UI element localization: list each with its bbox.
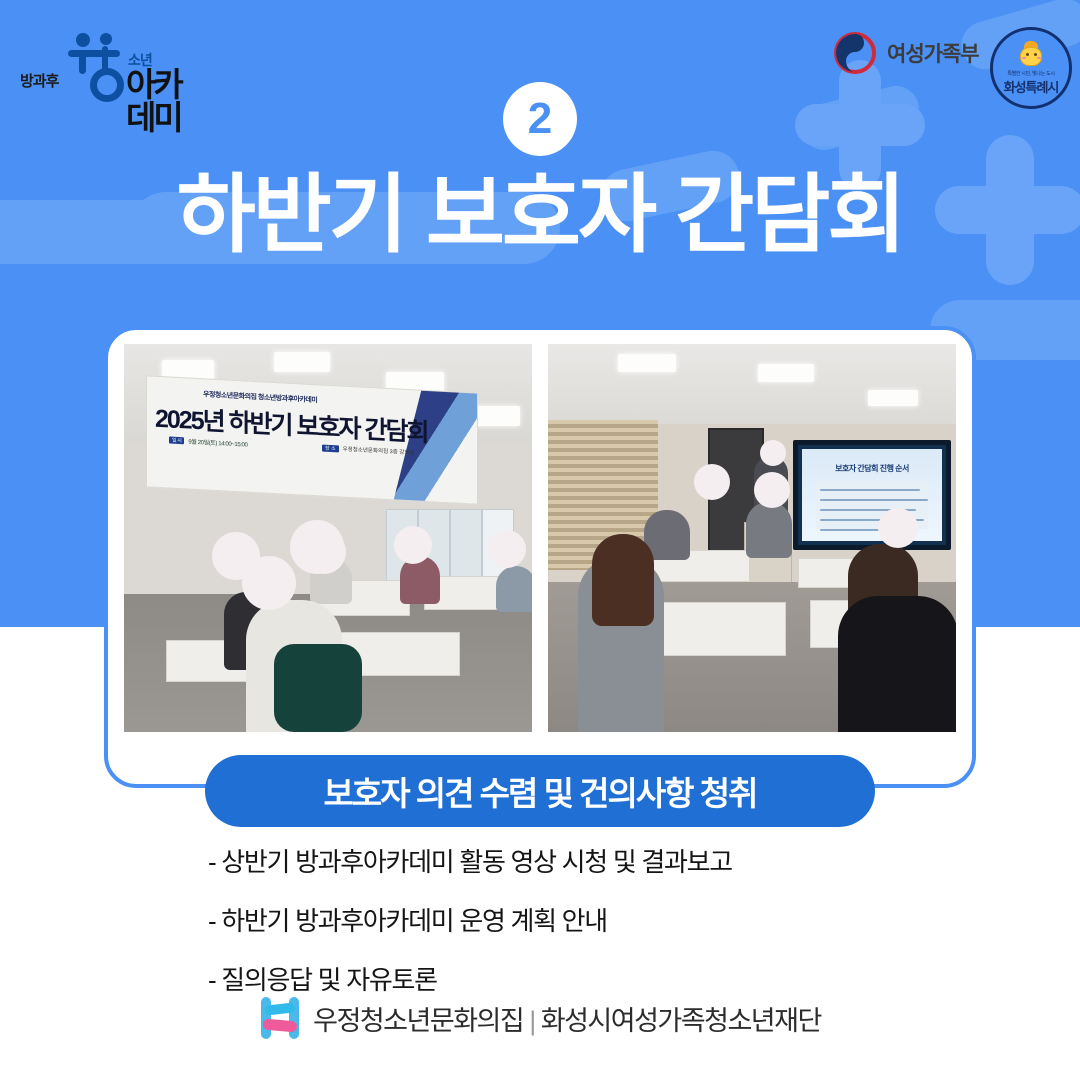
list-item: - 상반기 방과후아카데미 활동 영상 시청 및 결과보고 — [208, 842, 908, 879]
footer-org-secondary: 화성시여성가족청소년재단 — [541, 1006, 821, 1036]
footer-text: 우정청소년문화의집|화성시여성가족청소년재단 — [313, 999, 821, 1038]
section-number-badge: 2 — [503, 82, 577, 156]
bullet-list: - 상반기 방과후아카데미 활동 영상 시청 및 결과보고 - 하반기 방과후아… — [208, 842, 908, 1019]
page-title: 하반기 보호자 간담회 — [0, 170, 1080, 260]
city-slogan: 특별한 시민, 빛나는 도시 — [1007, 70, 1054, 77]
taegeuk-icon — [832, 30, 878, 76]
poster-card: 방과후 소년 아카데미 여성가족부 특별한 시민, 빛나는 도시 화성특례시 — [0, 0, 1080, 1080]
logo-label-academy: 아카데미 — [126, 68, 193, 134]
projector-screen: 보호자 간담회 진행 순서 — [793, 440, 951, 550]
foundation-logo-icon — [259, 995, 301, 1041]
ministry-logo: 여성가족부 — [832, 30, 979, 76]
footer: 우정청소년문화의집|화성시여성가족청소년재단 — [0, 995, 1080, 1041]
footer-org-primary: 우정청소년문화의집 — [313, 1006, 523, 1036]
photo-banner: 우정청소년문화의집 청소년방과후아카데미 2025년 하반기 보호자 간담회 일… — [146, 375, 478, 504]
group-meeting-photo: 우정청소년문화의집 청소년방과후아카데미 2025년 하반기 보호자 간담회 일… — [124, 344, 532, 732]
city-name: 화성특례시 — [1004, 77, 1059, 96]
section-banner: 보호자 의견 수렴 및 건의사항 청취 — [205, 755, 875, 827]
mascot-icon — [1016, 41, 1046, 67]
list-item: - 질의응답 및 자유토론 — [208, 960, 908, 997]
photo-card: 우정청소년문화의집 청소년방과후아카데미 2025년 하반기 보호자 간담회 일… — [104, 326, 976, 788]
presentation-photo: 보호자 간담회 진행 순서 — [548, 344, 956, 732]
city-badge: 특별한 시민, 빛나는 도시 화성특례시 — [990, 27, 1072, 109]
after-school-academy-logo: 방과후 소년 아카데미 — [18, 28, 193, 110]
logo-circle-a — [90, 68, 124, 102]
ministry-label: 여성가족부 — [887, 38, 979, 68]
list-item: - 하반기 방과후아카데미 운영 계획 안내 — [208, 901, 908, 938]
logo-label-bangwahu: 방과후 — [20, 70, 58, 91]
footer-separator: | — [529, 1006, 535, 1036]
screen-title: 보호자 간담회 진행 순서 — [810, 463, 934, 474]
